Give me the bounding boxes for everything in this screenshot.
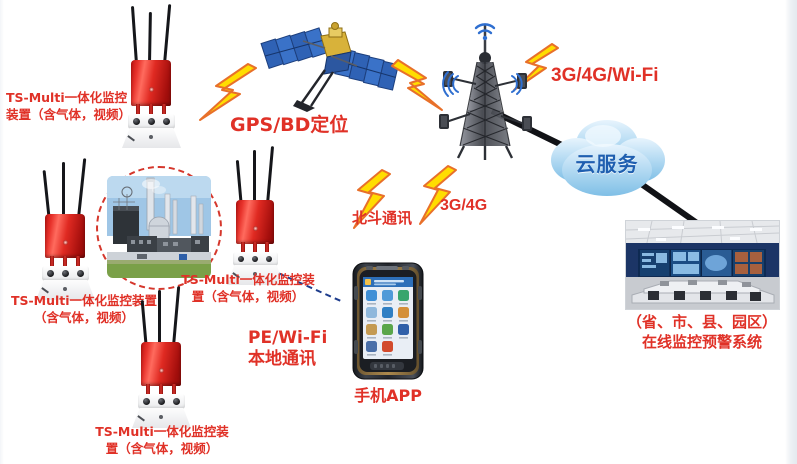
sensor-port	[158, 398, 165, 405]
sensor-port	[143, 398, 150, 405]
device-top-left[interactable]	[118, 4, 194, 146]
left-edge-strip	[0, 0, 4, 464]
label-line-2: 在线监控预警系统	[612, 332, 792, 352]
label-pe-wifi-local: PE/Wi-Fi 本地通讯	[248, 328, 327, 371]
cellular-tower	[430, 14, 540, 164]
label-beidou-comm: 北斗通讯	[352, 208, 412, 228]
label-line-2: 装置（含气体，视频）	[6, 107, 131, 124]
base-sensor	[159, 415, 163, 419]
device-body	[131, 60, 171, 106]
label-line-1: （省、市、县、园区）	[612, 312, 792, 332]
antenna	[62, 162, 65, 220]
sensor-port	[47, 270, 54, 277]
antenna	[253, 150, 256, 206]
antenna	[266, 146, 274, 204]
cloud-service: 云服务	[543, 112, 671, 207]
sensor-port	[148, 118, 155, 125]
device-body	[236, 200, 274, 244]
device-mid-left[interactable]	[32, 154, 108, 296]
control-room-label: （省、市、县、园区） 在线监控预警系统	[612, 312, 792, 353]
label-line-2: 本地通讯	[248, 349, 327, 370]
sensor-port	[266, 256, 272, 262]
cloud-label: 云服务	[543, 148, 671, 177]
label-line-1: TS-Multi一体化监控装	[82, 424, 242, 441]
antenna	[77, 158, 86, 218]
sensor-port	[62, 270, 69, 277]
label-line-1: TS-Multi一体化监控	[6, 90, 131, 107]
antenna	[158, 290, 161, 348]
antenna	[172, 286, 180, 346]
sensor-port	[173, 398, 180, 405]
label-line-1: PE/Wi-Fi	[248, 328, 327, 349]
device-mid-center[interactable]	[222, 140, 298, 282]
phone-app-label: 手机APP	[336, 385, 440, 407]
antenna	[148, 12, 152, 64]
base-sensor	[149, 135, 153, 139]
device-bottom[interactable]	[128, 280, 204, 422]
label-line-2: 置（含气体，视频）	[82, 441, 242, 458]
industrial-plant-photo	[107, 176, 211, 278]
label-3g-4g: 3G/4G	[440, 195, 487, 217]
device-bottom-label: TS-Multi一体化监控装 置（含气体，视频）	[82, 424, 242, 458]
antenna	[163, 4, 171, 64]
device-body	[141, 342, 181, 386]
sensor-port	[238, 256, 244, 262]
sensor-port	[163, 118, 170, 125]
sensor-port	[77, 270, 84, 277]
sensor-port	[133, 118, 140, 125]
handheld-terminal[interactable]	[352, 262, 424, 380]
sensor-port	[252, 256, 258, 262]
diagram-canvas: 云服务	[0, 0, 797, 464]
device-body	[45, 214, 85, 258]
label-3g-4g-wifi: 3G/4G/Wi-Fi	[551, 63, 659, 89]
right-edge-strip	[785, 0, 797, 464]
antenna	[131, 6, 138, 64]
control-room-photo	[625, 220, 780, 310]
base-sensor	[63, 287, 67, 291]
device-top-left-label: TS-Multi一体化监控 装置（含气体，视频）	[6, 90, 131, 124]
label-gps-bd-positioning: GPS/BD定位	[230, 113, 348, 139]
